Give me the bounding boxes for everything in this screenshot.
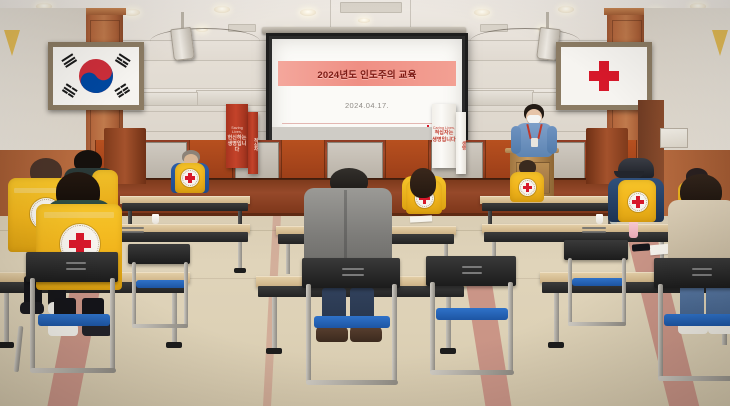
chair-backrest bbox=[128, 244, 190, 264]
ceiling-vent bbox=[340, 2, 402, 13]
ceiling-speaker-left bbox=[170, 27, 195, 61]
banner-left-korean: 헌신하는 생명입니다 bbox=[226, 135, 248, 154]
flag-south-korea bbox=[53, 47, 139, 105]
banner-right-korean: 적십자는 생명입니다 bbox=[432, 130, 456, 143]
attendee-hair bbox=[410, 168, 436, 198]
banner-left-red: Saving Lives, 헌신하는 생명입니다 bbox=[226, 104, 248, 168]
lecture-hall-photo: 2024년도 인도주의 교육 2024.04.17. Saving Lives,… bbox=[0, 0, 730, 406]
red-cross-emblem bbox=[628, 192, 648, 212]
ceiling-downlight bbox=[300, 9, 316, 16]
chair-row1-center-empty[interactable] bbox=[416, 256, 524, 380]
chair-backrest bbox=[564, 240, 628, 260]
attendee-volunteer-row2-left bbox=[168, 150, 212, 198]
banner-stage-left-vertical: 적십자 bbox=[248, 112, 258, 174]
slide-title-bar: 2024년도 인도주의 교육 bbox=[278, 61, 456, 86]
red-cross-emblem bbox=[181, 169, 199, 187]
framed-south-korean-flag bbox=[48, 42, 144, 110]
grey-jacket bbox=[304, 188, 392, 268]
wall-notice-right bbox=[660, 128, 688, 148]
red-cross-icon bbox=[632, 196, 643, 207]
ceiling-downlight bbox=[558, 6, 574, 13]
column-cap-right bbox=[604, 8, 648, 15]
chair-backrest bbox=[26, 252, 118, 282]
wall-sconce-right bbox=[712, 30, 728, 56]
slide-title: 2024년도 인도주의 교육 bbox=[317, 67, 416, 81]
presenter-arm-left bbox=[511, 126, 521, 154]
presenter-id-badge bbox=[531, 138, 538, 147]
banner-left-english: Saving Lives, bbox=[226, 126, 248, 135]
banner-stage-right-vertical: 생명 bbox=[456, 112, 466, 174]
red-cross-volunteer-vest bbox=[510, 172, 544, 202]
attendee-volunteer-capped-right bbox=[604, 158, 668, 236]
red-cross-icon bbox=[185, 173, 195, 183]
red-cross-icon bbox=[589, 61, 619, 91]
ceiling-downlight bbox=[358, 18, 370, 23]
slide-divider bbox=[282, 123, 452, 124]
chair-backrest bbox=[654, 258, 730, 288]
chair-seat bbox=[664, 314, 730, 326]
ceiling-downlight bbox=[474, 9, 490, 16]
red-cross-icon bbox=[523, 183, 533, 193]
wall-sconce-left bbox=[4, 30, 20, 56]
chair-seat bbox=[314, 316, 390, 328]
paper-cup bbox=[596, 214, 603, 224]
chair-backrest bbox=[302, 258, 400, 288]
red-cross-emblem bbox=[519, 179, 536, 196]
ceiling-downlight bbox=[214, 6, 230, 13]
chair-row1-center[interactable] bbox=[292, 258, 408, 392]
chair-seat bbox=[38, 314, 110, 326]
presenter bbox=[506, 104, 562, 162]
taeguk-symbol bbox=[72, 52, 119, 99]
banner-right-white: Caring Lives, 적십자는 생명입니다 bbox=[432, 104, 456, 168]
chair-row2-right-empty[interactable] bbox=[556, 240, 636, 330]
presenter-arm-right bbox=[547, 126, 557, 154]
paper-cup bbox=[152, 214, 159, 224]
cap-brim bbox=[614, 171, 644, 178]
chair-backrest bbox=[426, 256, 516, 286]
ceiling-downlight bbox=[124, 9, 140, 16]
chair-seat bbox=[572, 278, 624, 286]
flag-red-cross bbox=[561, 47, 647, 105]
red-cross-volunteer-vest bbox=[618, 180, 656, 222]
attendee-volunteer-near-podium bbox=[506, 160, 548, 204]
red-cross-volunteer-vest bbox=[175, 163, 205, 193]
chair-row1-left[interactable] bbox=[14, 252, 124, 382]
column-cap-left bbox=[82, 8, 126, 15]
chair-seat bbox=[436, 308, 508, 320]
attendee-volunteer-center-right bbox=[396, 168, 452, 228]
chair-seat bbox=[136, 280, 186, 288]
chair-row1-right[interactable] bbox=[640, 258, 730, 386]
chair-row2-left-empty[interactable] bbox=[120, 244, 198, 332]
